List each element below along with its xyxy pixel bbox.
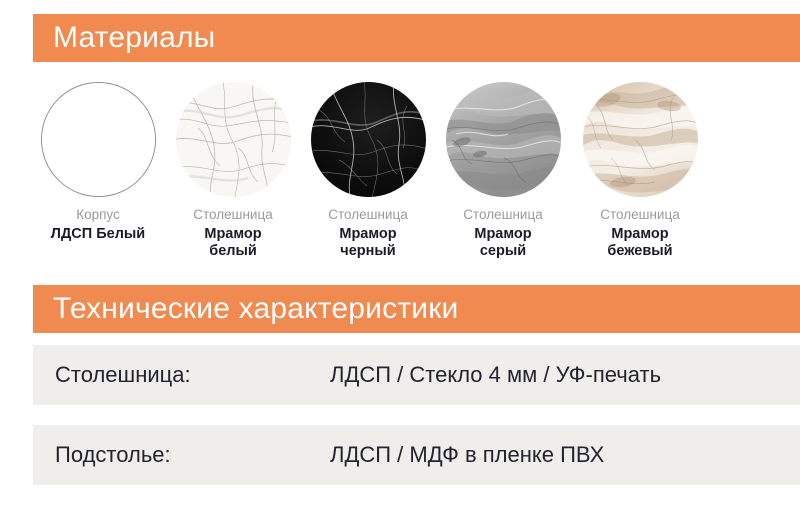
material-swatch-list: Корпус ЛДСП Белый	[33, 82, 800, 267]
section-title-materials: Материалы	[53, 23, 215, 53]
spec-row: Столешница: ЛДСП / Стекло 4 мм / УФ-печа…	[33, 345, 800, 405]
material-swatch[interactable]: Столешница Мрамор бежевый	[575, 82, 705, 260]
texture-marble-beige-icon	[583, 82, 698, 197]
swatch-name: Мрамор белый	[168, 226, 298, 260]
spec-label: Столешница:	[55, 362, 330, 388]
swatch-disc-marble-white[interactable]	[176, 82, 291, 197]
swatch-name: Мрамор черный	[303, 226, 433, 260]
material-swatch[interactable]: Столешница Мрамор черный	[303, 82, 433, 260]
texture-marble-black-icon	[311, 82, 426, 197]
section-header-specs: Технические характеристики	[33, 285, 800, 333]
swatch-disc-marble-black[interactable]	[311, 82, 426, 197]
swatch-caption: Столешница	[168, 207, 298, 223]
spec-row: Подстолье: ЛДСП / МДФ в пленке ПВХ	[33, 425, 800, 485]
section-header-materials: Материалы	[33, 14, 800, 62]
material-swatch[interactable]: Столешница Мрамор белый	[168, 82, 298, 260]
swatch-name-line: черный	[303, 243, 433, 260]
swatch-name-line: Мрамор	[438, 226, 568, 243]
swatch-name: Мрамор бежевый	[575, 226, 705, 260]
swatch-disc-marble-gray[interactable]	[446, 82, 561, 197]
swatch-name-line: серый	[438, 243, 568, 260]
swatch-disc-marble-beige[interactable]	[583, 82, 698, 197]
swatch-name-line: Мрамор	[303, 226, 433, 243]
swatch-caption: Корпус	[33, 207, 163, 223]
swatch-name-line: ЛДСП Белый	[33, 226, 163, 243]
spec-value: ЛДСП / МДФ в пленке ПВХ	[330, 442, 604, 468]
texture-marble-gray-icon	[446, 82, 561, 197]
swatch-name: ЛДСП Белый	[33, 226, 163, 243]
texture-plain-white-icon	[42, 83, 155, 196]
swatch-name-line: белый	[168, 243, 298, 260]
spec-value: ЛДСП / Стекло 4 мм / УФ-печать	[330, 362, 661, 388]
section-title-specs: Технические характеристики	[53, 294, 459, 324]
swatch-name: Мрамор серый	[438, 226, 568, 260]
swatch-caption: Столешница	[438, 207, 568, 223]
product-spec-card: Материалы Корпус ЛДСП Белый	[0, 0, 800, 507]
swatch-name-line: Мрамор	[575, 226, 705, 243]
swatch-caption: Столешница	[575, 207, 705, 223]
swatch-name-line: бежевый	[575, 243, 705, 260]
swatch-name-line: Мрамор	[168, 226, 298, 243]
material-swatch[interactable]: Корпус ЛДСП Белый	[33, 82, 163, 243]
texture-marble-white-icon	[176, 82, 291, 197]
spec-label: Подстолье:	[55, 442, 330, 468]
material-swatch[interactable]: Столешница Мрамор серый	[438, 82, 568, 260]
swatch-disc-plain-white[interactable]	[41, 82, 156, 197]
swatch-caption: Столешница	[303, 207, 433, 223]
